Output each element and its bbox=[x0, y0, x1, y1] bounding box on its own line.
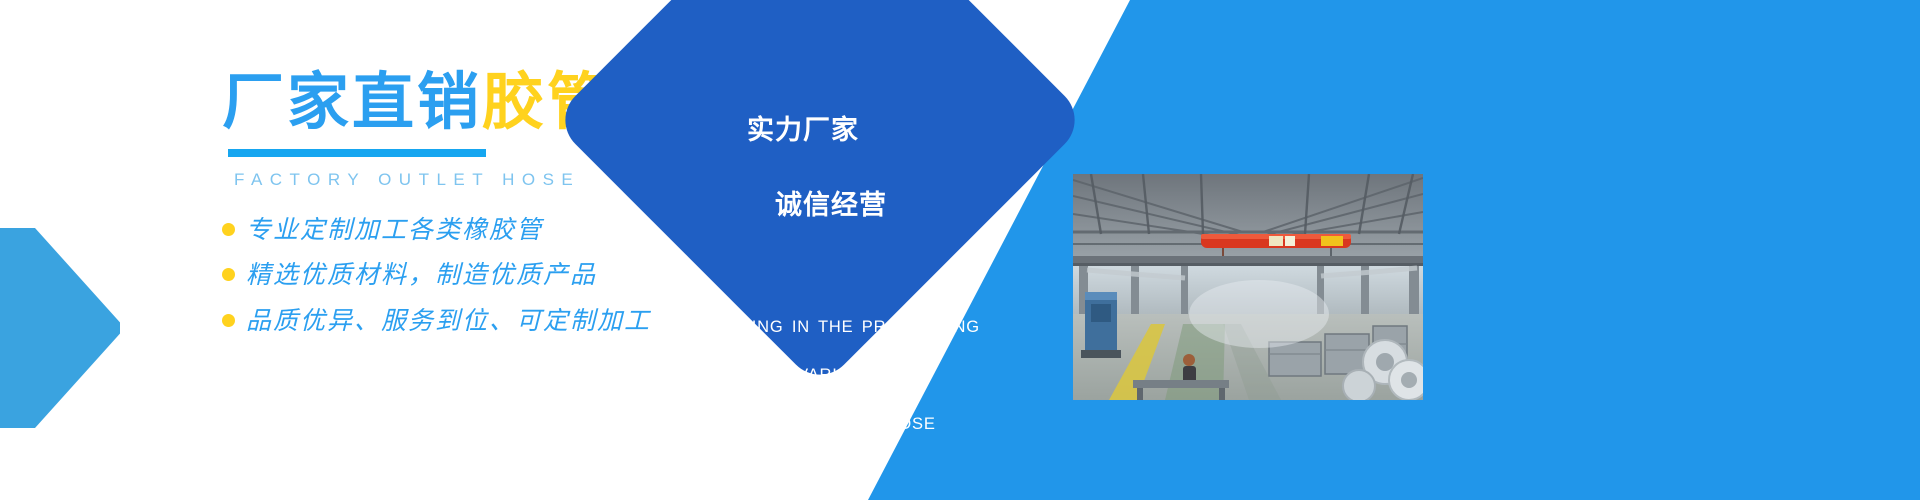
bullet-dot-icon bbox=[222, 223, 235, 236]
bullet-label: 专业定制加工各类橡胶管 bbox=[246, 214, 543, 245]
badge-en-line-3: TYPES OF RUBBER HOSE bbox=[704, 415, 935, 433]
bullet-label: 精选优质材料，制造优质产品 bbox=[246, 259, 597, 290]
list-item: 精选优质材料，制造优质产品 bbox=[222, 259, 742, 290]
blue-machine bbox=[1081, 292, 1121, 358]
list-item: 品质优异、服务到位、可定制加工 bbox=[222, 305, 742, 336]
bullet-dot-icon bbox=[222, 314, 235, 327]
factory-photo bbox=[1073, 174, 1423, 400]
headline-underline bbox=[228, 149, 486, 157]
chevron-arrow-decoration bbox=[0, 228, 120, 428]
bullet-dot-icon bbox=[222, 268, 235, 281]
bullet-label: 品质优异、服务到位、可定制加工 bbox=[246, 305, 651, 336]
promo-banner: 厂家直销胶管 FACTORY OUTLET HOSE 专业定制加工各类橡胶管 精… bbox=[0, 0, 1920, 500]
headline-primary: 厂家直销 bbox=[222, 68, 482, 137]
factory-photo-illustration bbox=[1073, 174, 1423, 400]
